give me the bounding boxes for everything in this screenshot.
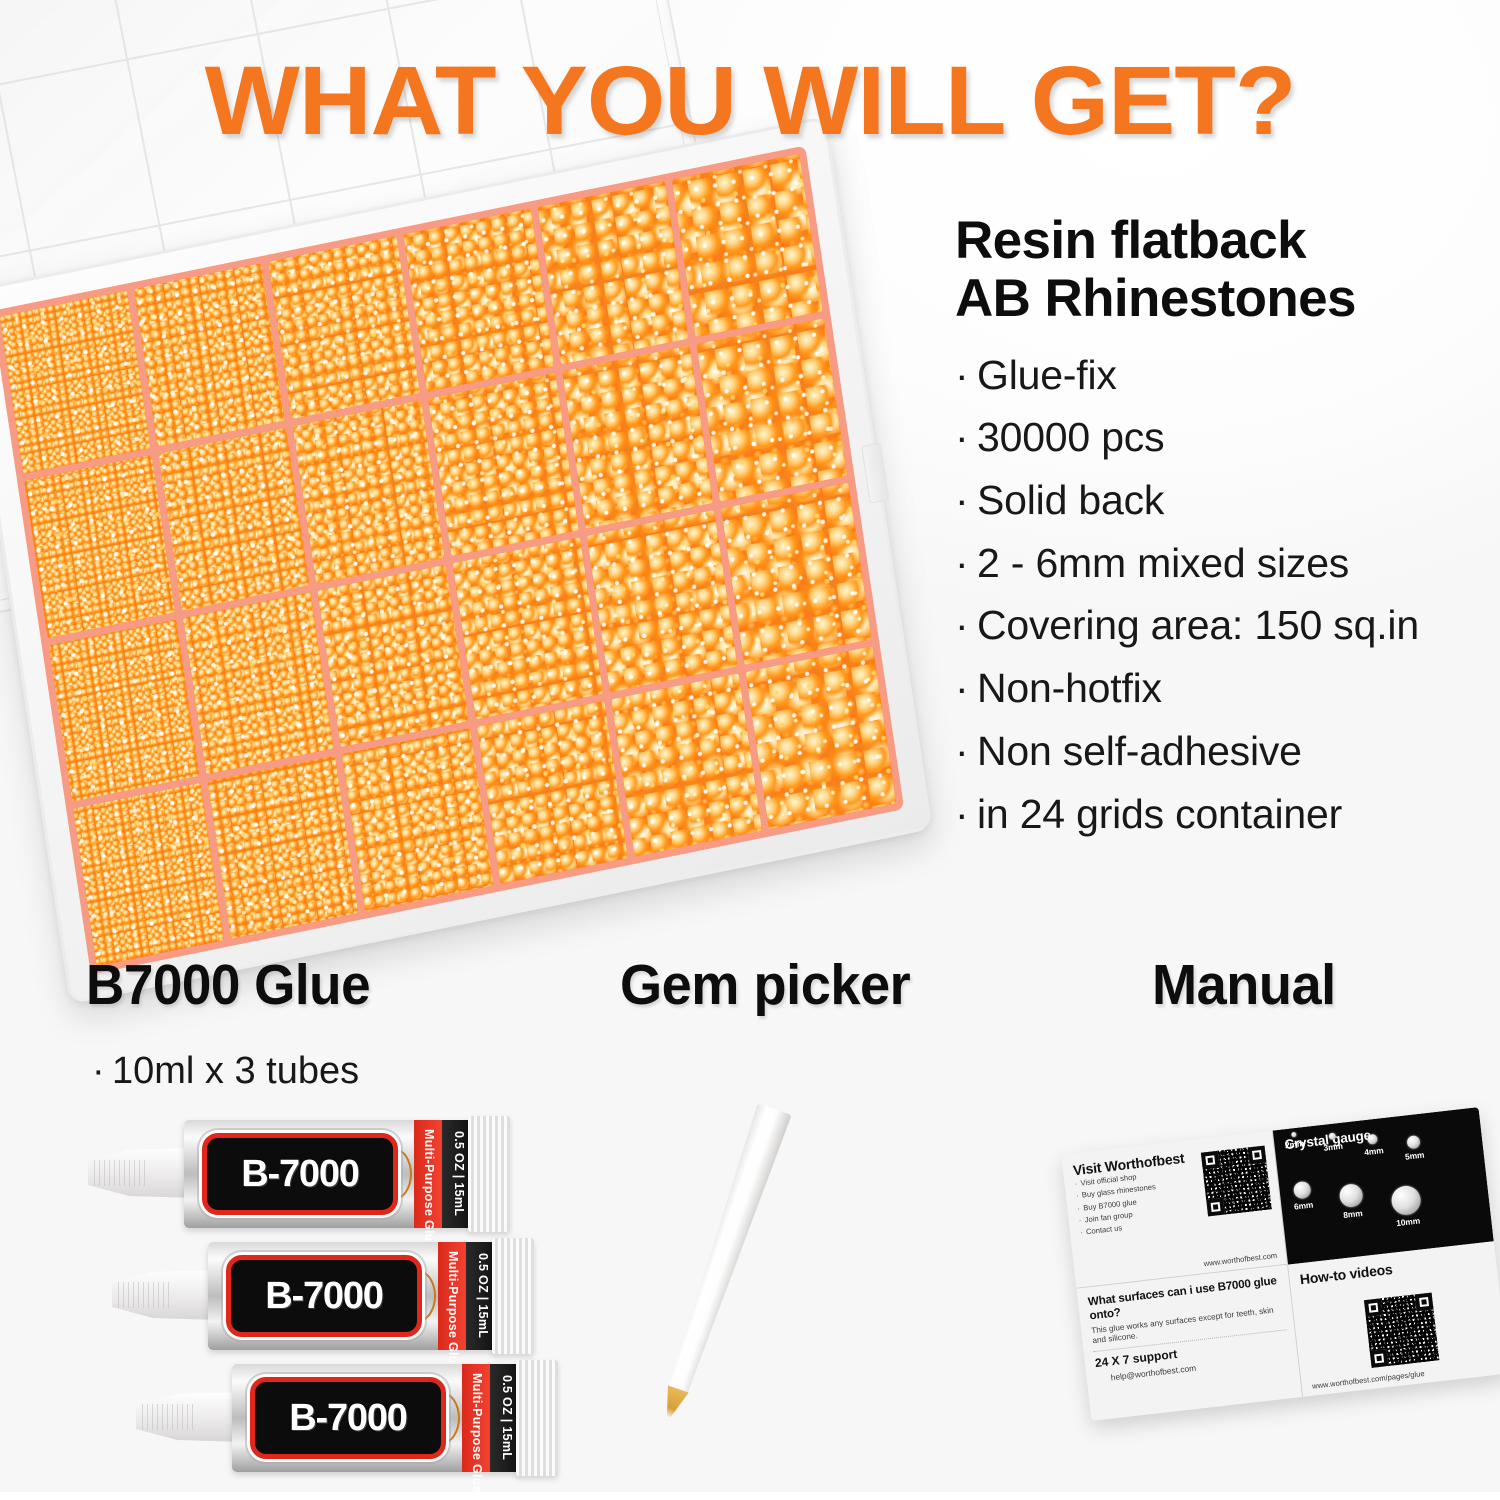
feature-item: ·Solid back xyxy=(955,469,1500,532)
gauge-sample: 2mm xyxy=(1277,1130,1311,1151)
bullet-icon: · xyxy=(92,1050,112,1093)
bullet-icon: · xyxy=(955,406,977,469)
card-howto-section: How-to videos www.worthofbest.com/pages/… xyxy=(1288,1242,1500,1397)
tray-cell xyxy=(49,619,200,802)
gauge-stone-icon xyxy=(1328,1132,1336,1140)
card-visit-section: Visit Worthofbest ·Visit official shop·B… xyxy=(1061,1131,1288,1290)
gem-picker-pencil xyxy=(650,1103,791,1427)
glue-tube-stack: Multi-Purpose Glue0.5 OZ | 15mLCLEARB-70… xyxy=(70,1120,590,1500)
bullet-icon: · xyxy=(955,783,977,846)
gauge-stone-icon xyxy=(1291,1132,1297,1138)
glue-tube: Multi-Purpose Glue0.5 OZ | 15mLCLEARB-70… xyxy=(88,1120,508,1228)
feature-label: Solid back xyxy=(977,477,1164,523)
tube-crimp-seal xyxy=(468,1116,510,1232)
tray-cell xyxy=(73,783,224,966)
tray-cell xyxy=(537,181,688,364)
tube-brand-text: B-7000 xyxy=(265,1275,382,1318)
section-heading-manual: Manual xyxy=(1152,952,1336,1018)
qr-code-shop-icon xyxy=(1201,1146,1272,1217)
gauge-stone-icon xyxy=(1367,1134,1378,1145)
tray-cell xyxy=(672,154,823,337)
feature-item: ·Non self-adhesive xyxy=(955,720,1500,783)
product-heading: Resin flatback AB Rhinestones xyxy=(955,212,1500,328)
gauge-sample: 5mm xyxy=(1396,1134,1431,1162)
gauge-size-label: 3mm xyxy=(1317,1140,1350,1154)
gauge-sample: 3mm xyxy=(1316,1131,1350,1154)
glue-quantity-note: ·10ml x 3 tubes xyxy=(92,1050,359,1093)
tray-cell xyxy=(611,674,762,857)
tray-cell xyxy=(24,455,175,638)
tray-cell xyxy=(696,318,847,501)
product-heading-line2: AB Rhinestones xyxy=(955,269,1356,328)
section-heading-glue: B7000 Glue xyxy=(86,952,370,1018)
tube-purpose-text: Multi-Purpose Glue xyxy=(470,1373,484,1493)
pencil-body xyxy=(660,1103,792,1398)
feature-item: ·Non-hotfix xyxy=(955,657,1500,720)
bullet-icon: · xyxy=(955,594,977,657)
card-howto-url: www.worthofbest.com/pages/glue xyxy=(1312,1369,1425,1391)
feature-label: in 24 grids container xyxy=(977,791,1342,837)
tube-nozzle xyxy=(88,1148,196,1198)
gauge-size-label: 2mm xyxy=(1278,1137,1311,1151)
product-info-panel: Resin flatback AB Rhinestones ·Glue-fix·… xyxy=(955,212,1500,845)
feature-item: ·2 - 6mm mixed sizes xyxy=(955,532,1500,595)
tray-cell xyxy=(208,756,359,939)
feature-list: ·Glue-fix·30000 pcs·Solid back·2 - 6mm m… xyxy=(955,344,1500,846)
feature-item: ·30000 pcs xyxy=(955,406,1500,469)
gauge-sample: 6mm xyxy=(1285,1180,1320,1212)
tray-cell xyxy=(0,291,151,474)
tube-purpose-text: Multi-Purpose Glue xyxy=(422,1129,436,1249)
card-crystal-gauge-section: Crystal gauge 2mm3mm4mm5mm6mm8mm10mm xyxy=(1273,1107,1494,1265)
gauge-sample: 4mm xyxy=(1356,1133,1390,1158)
tube-brand-text: B-7000 xyxy=(289,1397,406,1440)
infographic-canvas: WHAT YOU WILL GET? Resin flatback AB Rhi… xyxy=(0,0,1500,1492)
feature-item: ·Glue-fix xyxy=(955,344,1500,407)
crystal-gauge-samples: 2mm3mm4mm5mm6mm8mm10mm xyxy=(1273,1107,1494,1265)
gauge-size-label: 4mm xyxy=(1357,1144,1390,1158)
tube-body: Multi-Purpose Glue0.5 OZ | 15mLCLEARB-70… xyxy=(232,1364,520,1472)
tube-crimp-seal xyxy=(516,1360,558,1476)
tray-cell xyxy=(183,592,334,775)
glue-quantity-text: 10ml x 3 tubes xyxy=(112,1050,359,1092)
feature-label: Covering area: 150 sq.in xyxy=(977,602,1419,648)
glue-tube: Multi-Purpose Glue0.5 OZ | 15mLCLEARB-70… xyxy=(136,1364,556,1472)
feature-item: ·Covering area: 150 sq.in xyxy=(955,594,1500,657)
tray-cell xyxy=(342,728,493,911)
tube-purpose-text: Multi-Purpose Glue xyxy=(446,1251,460,1371)
tube-body: Multi-Purpose Glue0.5 OZ | 15mLCLEARB-70… xyxy=(184,1120,472,1228)
feature-label: Non self-adhesive xyxy=(977,728,1302,774)
tray-cell xyxy=(721,482,872,665)
bullet-icon: · xyxy=(955,344,977,407)
gauge-size-label: 10mm xyxy=(1392,1215,1425,1229)
tube-volume-text: 0.5 OZ | 15mL xyxy=(476,1253,490,1338)
tray-cell xyxy=(476,701,627,884)
tray-cell xyxy=(318,564,469,747)
page-title: WHAT YOU WILL GET? xyxy=(0,52,1500,149)
tray-cell xyxy=(293,400,444,583)
tube-nozzle xyxy=(136,1392,244,1442)
tube-volume-text: 0.5 OZ | 15mL xyxy=(500,1375,514,1460)
feature-label: 30000 pcs xyxy=(977,414,1164,460)
section-heading-gem-picker: Gem picker xyxy=(620,952,910,1018)
feature-item: ·in 24 grids container xyxy=(955,783,1500,846)
tray-cell xyxy=(427,373,578,556)
feature-label: 2 - 6mm mixed sizes xyxy=(977,540,1349,586)
gauge-sample: 8mm xyxy=(1334,1182,1370,1220)
gauge-sample: 10mm xyxy=(1388,1184,1424,1228)
manual-card: Visit Worthofbest ·Visit official shop·B… xyxy=(1061,1107,1500,1421)
bullet-icon: · xyxy=(955,469,977,532)
tray-cell xyxy=(403,209,554,392)
tray-cell xyxy=(562,345,713,528)
gauge-size-label: 6mm xyxy=(1287,1199,1320,1213)
gauge-size-label: 8mm xyxy=(1336,1207,1369,1221)
tray-latch xyxy=(861,443,889,504)
tray-cell xyxy=(452,537,603,720)
tube-volume-text: 0.5 OZ | 15mL xyxy=(452,1131,466,1216)
gauge-stone-icon xyxy=(1390,1184,1422,1216)
tray-cell xyxy=(586,509,737,692)
feature-label: Glue-fix xyxy=(977,352,1117,398)
card-faq-section: What surfaces can i use B7000 glue onto?… xyxy=(1076,1265,1303,1421)
tray-cell xyxy=(134,263,285,446)
tube-brand-plate: B-7000 xyxy=(202,1133,398,1215)
qr-code-howto-icon xyxy=(1364,1293,1439,1368)
tube-nozzle xyxy=(112,1270,220,1320)
tube-body: Multi-Purpose Glue0.5 OZ | 15mLCLEARB-70… xyxy=(208,1242,496,1350)
gauge-stone-icon xyxy=(1338,1183,1363,1208)
tube-brand-plate: B-7000 xyxy=(226,1255,422,1337)
gauge-stone-icon xyxy=(1406,1135,1420,1149)
card-visit-url: www.worthofbest.com xyxy=(1203,1251,1277,1268)
tray-grid-24 xyxy=(0,145,904,974)
tube-brand-plate: B-7000 xyxy=(250,1377,446,1459)
tube-crimp-seal xyxy=(492,1238,534,1354)
bullet-icon: · xyxy=(955,532,977,595)
gauge-stone-icon xyxy=(1292,1181,1311,1200)
tray-cell xyxy=(159,427,310,610)
feature-label: Non-hotfix xyxy=(977,665,1162,711)
product-heading-line1: Resin flatback xyxy=(955,211,1306,270)
glue-tube: Multi-Purpose Glue0.5 OZ | 15mLCLEARB-70… xyxy=(112,1242,532,1350)
tray-cell xyxy=(745,646,896,829)
tube-brand-text: B-7000 xyxy=(241,1153,358,1196)
tray-cell xyxy=(268,236,419,419)
bullet-icon: · xyxy=(955,720,977,783)
bullet-icon: · xyxy=(955,657,977,720)
gauge-size-label: 5mm xyxy=(1398,1149,1431,1163)
card-visit-item-label: Contact us xyxy=(1086,1223,1123,1236)
